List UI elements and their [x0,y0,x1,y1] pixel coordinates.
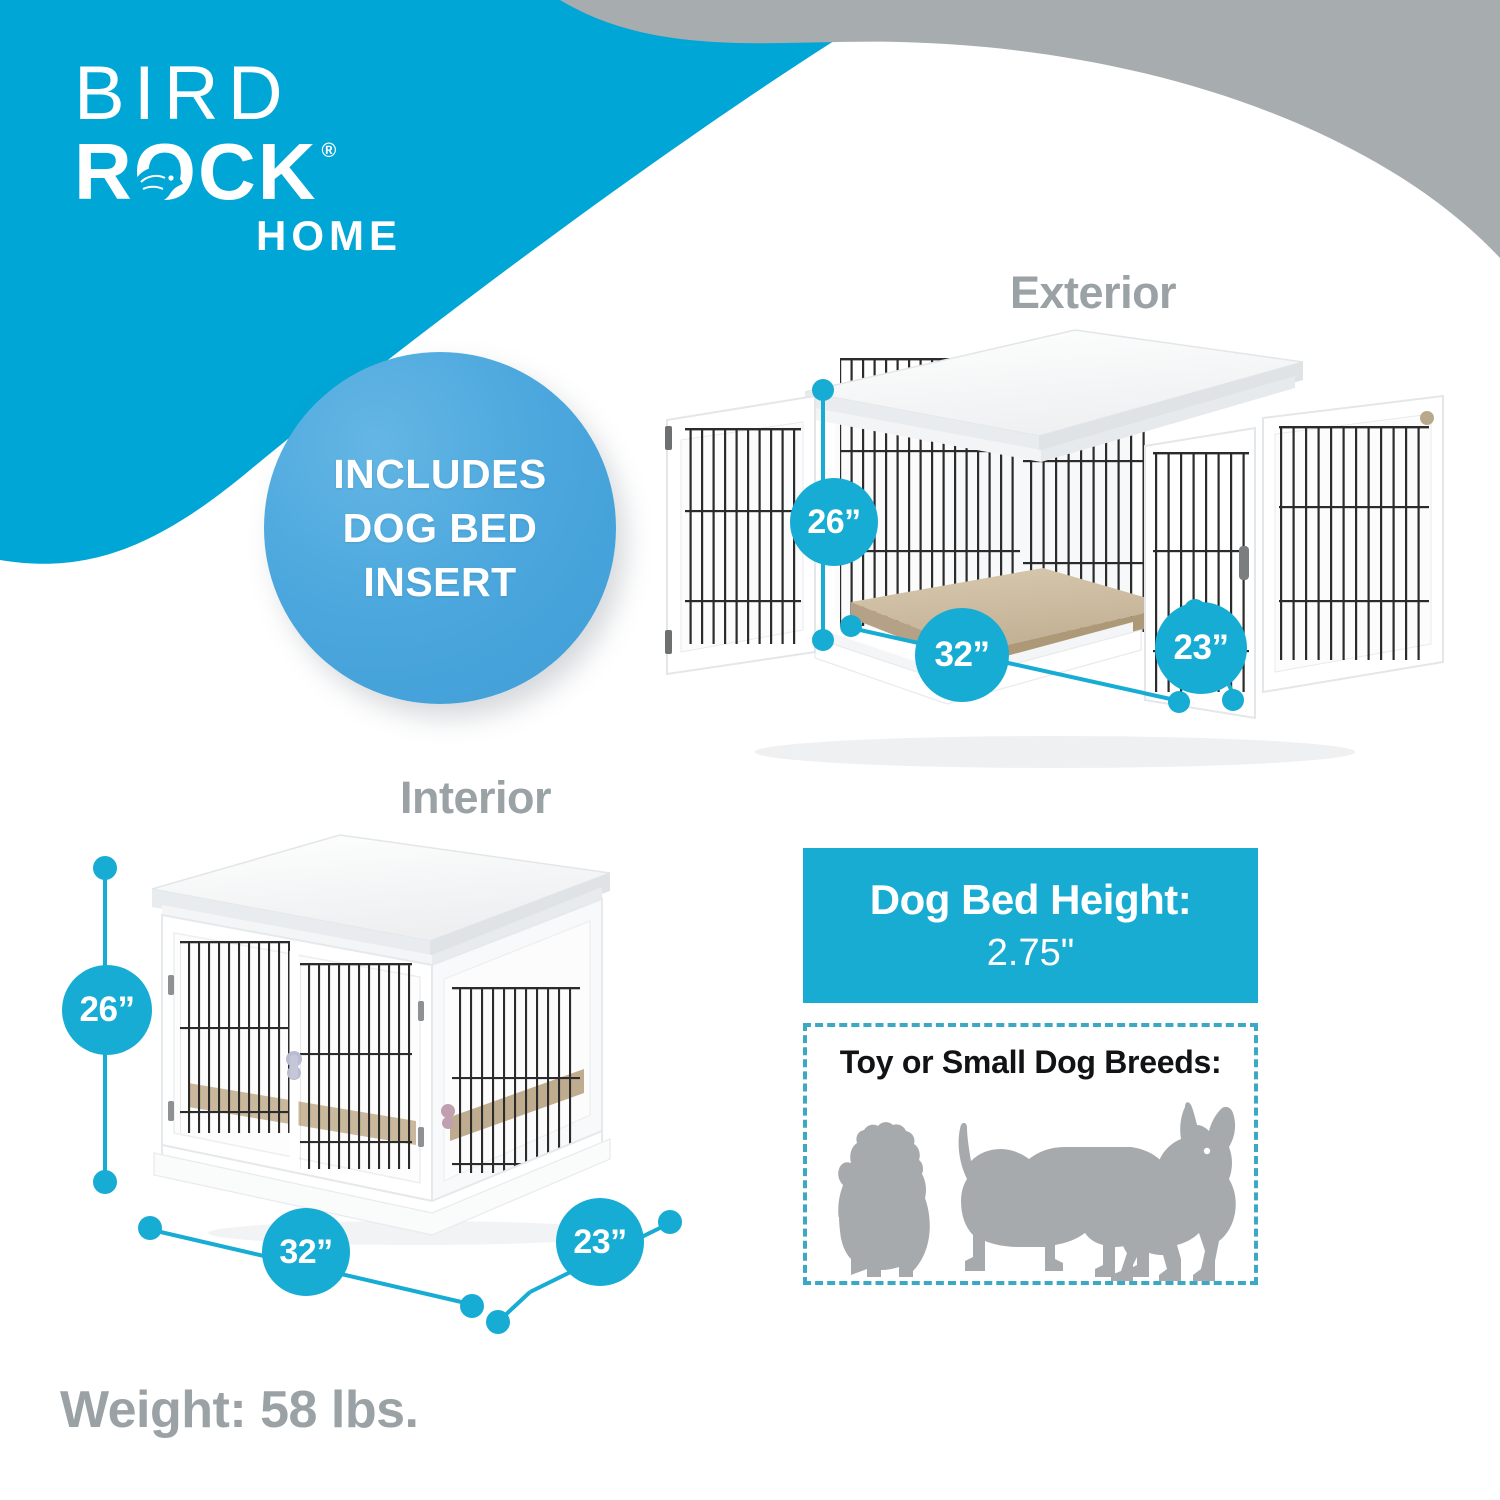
exterior-height-value: 26” [807,503,860,542]
exterior-width-value: 32” [935,635,990,675]
dog-silhouettes [815,1089,1254,1281]
badge-line-3: INSERT [333,555,547,609]
right-open-door [1263,396,1443,692]
door-hinge-icon [665,630,672,654]
door-latch-icon [1239,546,1249,580]
badge-line-1: INCLUDES [333,447,547,501]
ground-shadow [755,736,1355,768]
badge-line-2: DOG BED [333,501,547,555]
interior-depth-value: 23” [573,1223,626,1262]
exterior-crate-illustration [655,300,1455,780]
bird-icon [129,156,191,208]
logo-bird-text: BIRD [74,58,404,130]
interior-width-callout: 32” [262,1208,350,1296]
interior-height-callout: 26” [62,965,152,1055]
dog-bed-height-value: 2.75" [987,932,1074,975]
door-knob-icon [1420,411,1434,425]
dog-bed-height-panel: Dog Bed Height: 2.75" [803,848,1258,1003]
includes-dog-bed-badge: INCLUDES DOG BED INSERT [264,352,616,704]
dog-breeds-box: Toy or Small Dog Breeds: [803,1023,1258,1285]
exterior-depth-callout: 23” [1155,602,1247,694]
interior-dimension-lines [0,780,760,1340]
badge-text: INCLUDES DOG BED INSERT [333,447,547,609]
brand-logo: BIRD ROCK ® HOME [74,58,404,260]
interior-height-value: 26” [80,990,135,1030]
interior-width-value: 32” [279,1233,332,1272]
weight-text: Weight: 58 lbs. [60,1380,418,1440]
door-hinge-icon [665,426,672,450]
logo-home-text: HOME [74,212,404,260]
chihuahua-icon [1111,1102,1236,1281]
infographic-canvas: BIRD ROCK ® HOME INCLUDES DOG BED INSERT… [0,0,1500,1500]
exterior-height-callout: 26” [790,478,878,566]
yorkshire-terrier-icon [838,1122,930,1277]
interior-depth-callout: 23” [556,1198,644,1286]
exterior-width-callout: 32” [915,608,1009,702]
dog-bed-height-title: Dog Bed Height: [870,876,1191,924]
logo-rock-text: ROCK [74,134,318,210]
exterior-depth-value: 23” [1174,628,1229,668]
logo-rock-row: ROCK ® [74,134,404,210]
registered-mark: ® [322,142,337,161]
dog-breeds-title: Toy or Small Dog Breeds: [807,1044,1254,1081]
logo-rock-label: ROCK [74,127,318,216]
